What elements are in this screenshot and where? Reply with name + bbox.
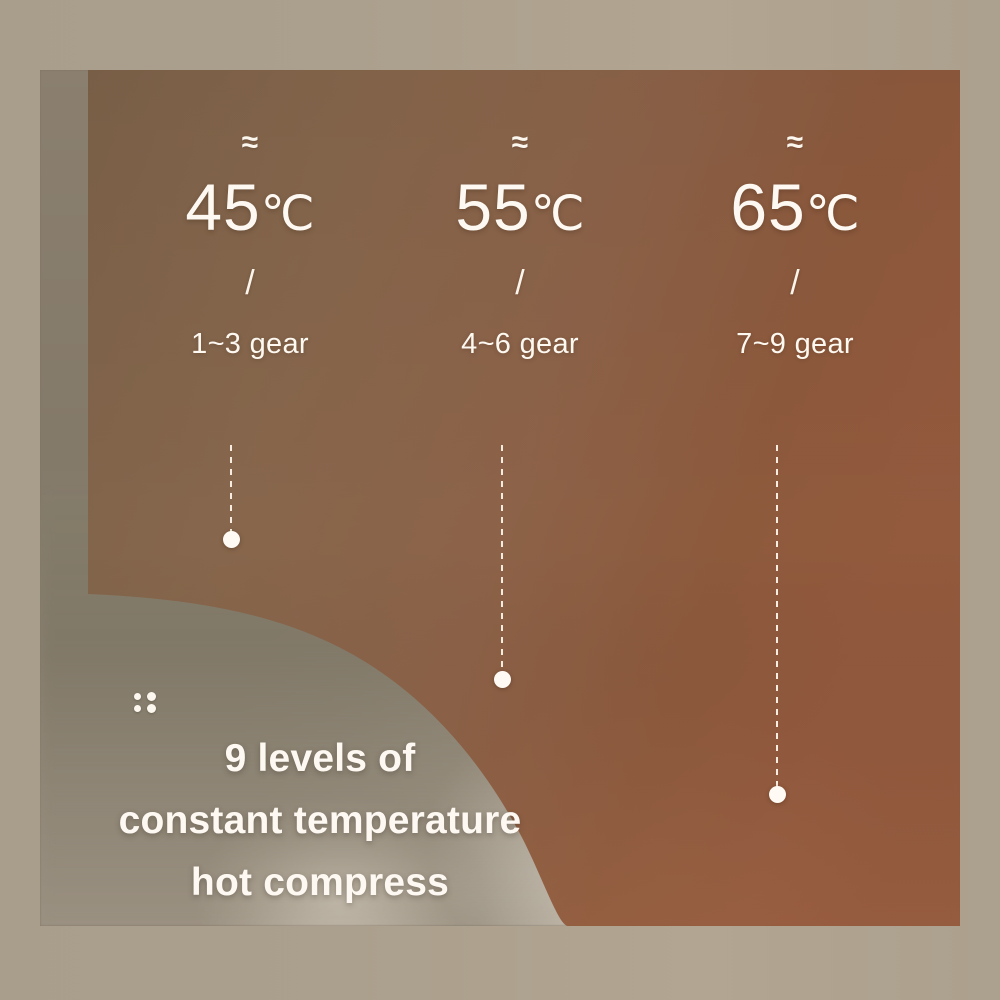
product-feature-card: ≈ 45℃ / 1~3 gear ≈ 55℃ / 4~6 gear ≈ <box>0 0 1000 1000</box>
dot <box>147 692 156 701</box>
dot <box>147 704 156 713</box>
overlay-sheen <box>88 70 960 926</box>
photo-area: ≈ 45℃ / 1~3 gear ≈ 55℃ / 4~6 gear ≈ <box>40 70 960 926</box>
dot <box>134 693 141 700</box>
overlay-shape <box>88 70 960 926</box>
four-dot-grid-icon <box>134 692 162 720</box>
brown-overlay-panel <box>88 70 960 926</box>
dot <box>134 705 141 712</box>
